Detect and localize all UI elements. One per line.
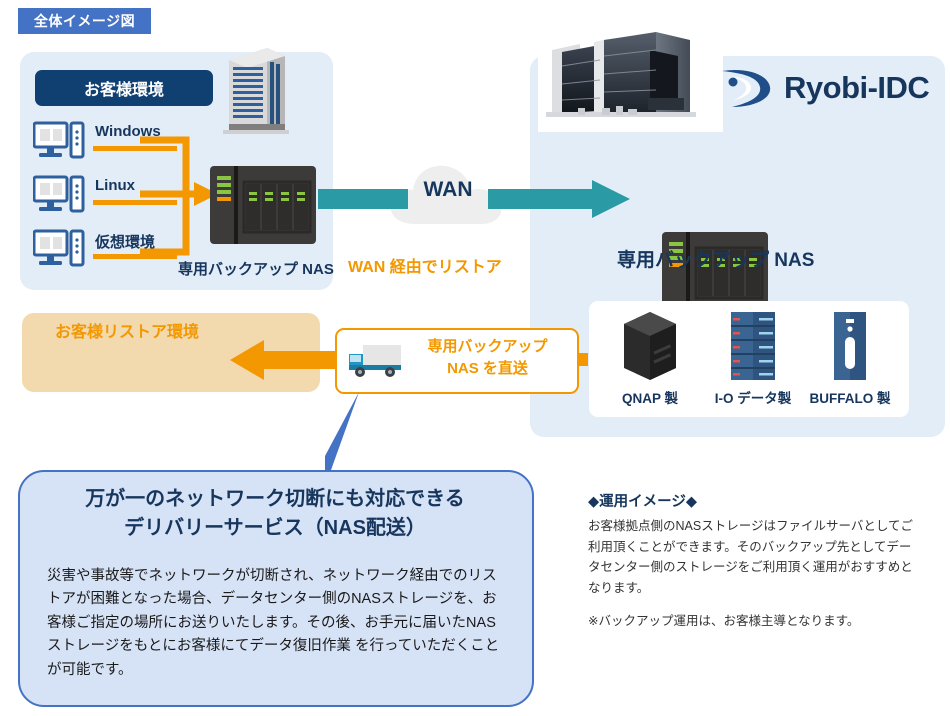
callout-body: 災害や事故等でネットワークが切断され、ネットワーク経由でのリストアが困難となった… — [47, 565, 507, 682]
callout-title-line1: 万が一のネットワーク切断にも対応できる — [45, 485, 505, 514]
desktop-pc-icon — [33, 120, 85, 162]
teal-arrow-segment-left — [318, 180, 408, 218]
operation-image-title: ◆運用イメージ◆ — [588, 490, 697, 511]
wan-cloud-label: WAN — [408, 178, 488, 202]
operation-image-note: ※バックアップ運用は、お客様主導となります。 — [588, 610, 928, 629]
io-data-rack-icon — [703, 310, 803, 382]
operation-image-body: お客様拠点側のNASストレージはファイルサーバとしてご利用頂くことができます。そ… — [588, 516, 918, 599]
ryobi-idc-logo-text: Ryobi-IDC — [784, 70, 929, 106]
qnap-tower-icon — [600, 310, 700, 382]
customer-environment-header: お客様環境 — [35, 70, 213, 106]
diagram-title-badge: 全体イメージ図 — [18, 8, 151, 34]
delivery-connector-left — [322, 353, 336, 366]
restore-environment-label: お客様リストア環境 — [55, 318, 199, 342]
delivery-text-line2: NAS を直送 — [405, 358, 570, 380]
delivery-text-line1: 専用バックアップ — [405, 336, 570, 358]
vendor-label-buffalo: BUFFALO 製 — [800, 387, 900, 407]
client-label-linux: Linux — [95, 177, 135, 194]
buffalo-nas-icon — [800, 310, 900, 382]
customer-nas-caption: 専用バックアップ NAS — [178, 258, 334, 279]
ryobi-idc-logo: Ryobi-IDC — [718, 62, 933, 114]
datacenter-building-photo — [538, 28, 723, 132]
vendor-item-qnap: QNAP 製 — [600, 310, 700, 407]
desktop-pc-icon — [33, 228, 85, 270]
vendor-item-buffalo: BUFFALO 製 — [800, 310, 900, 407]
delivery-text: 専用バックアップ NAS を直送 — [405, 336, 570, 380]
ryobi-swoosh-icon — [718, 65, 776, 111]
customer-backup-nas-icon — [208, 162, 320, 250]
teal-arrow-to-idc — [488, 178, 630, 220]
desktop-pc-icon — [33, 174, 85, 216]
vendor-label-qnap: QNAP 製 — [600, 387, 700, 407]
callout-title: 万が一のネットワーク切断にも対応できる デリバリーサービス（NAS配送） — [45, 485, 505, 543]
vendor-label-iodata: I-O データ製 — [703, 387, 803, 407]
idc-nas-caption: 専用バックアップ NAS — [617, 245, 814, 272]
callout-pointer-triangle — [325, 392, 379, 474]
delivery-truck-icon — [347, 340, 411, 380]
office-building-icon — [215, 30, 293, 138]
callout-title-line2: デリバリーサービス（NAS配送） — [45, 514, 505, 543]
vendor-item-iodata: I-O データ製 — [703, 310, 803, 407]
wan-restore-caption: WAN 経由でリストア — [348, 253, 502, 277]
